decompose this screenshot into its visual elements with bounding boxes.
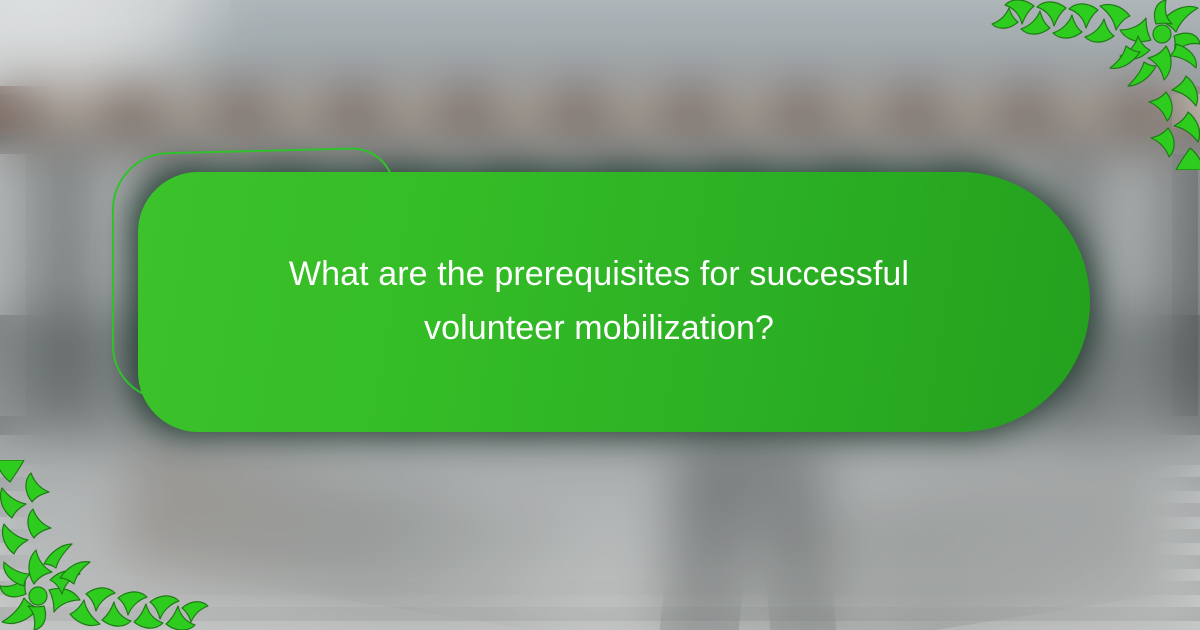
question-card: What are the prerequisites for successfu… [138,172,1090,432]
question-card-graphic: What are the prerequisites for successfu… [0,0,1200,630]
question-text: What are the prerequisites for successfu… [289,248,909,355]
question-card-group: What are the prerequisites for successfu… [112,150,1097,440]
